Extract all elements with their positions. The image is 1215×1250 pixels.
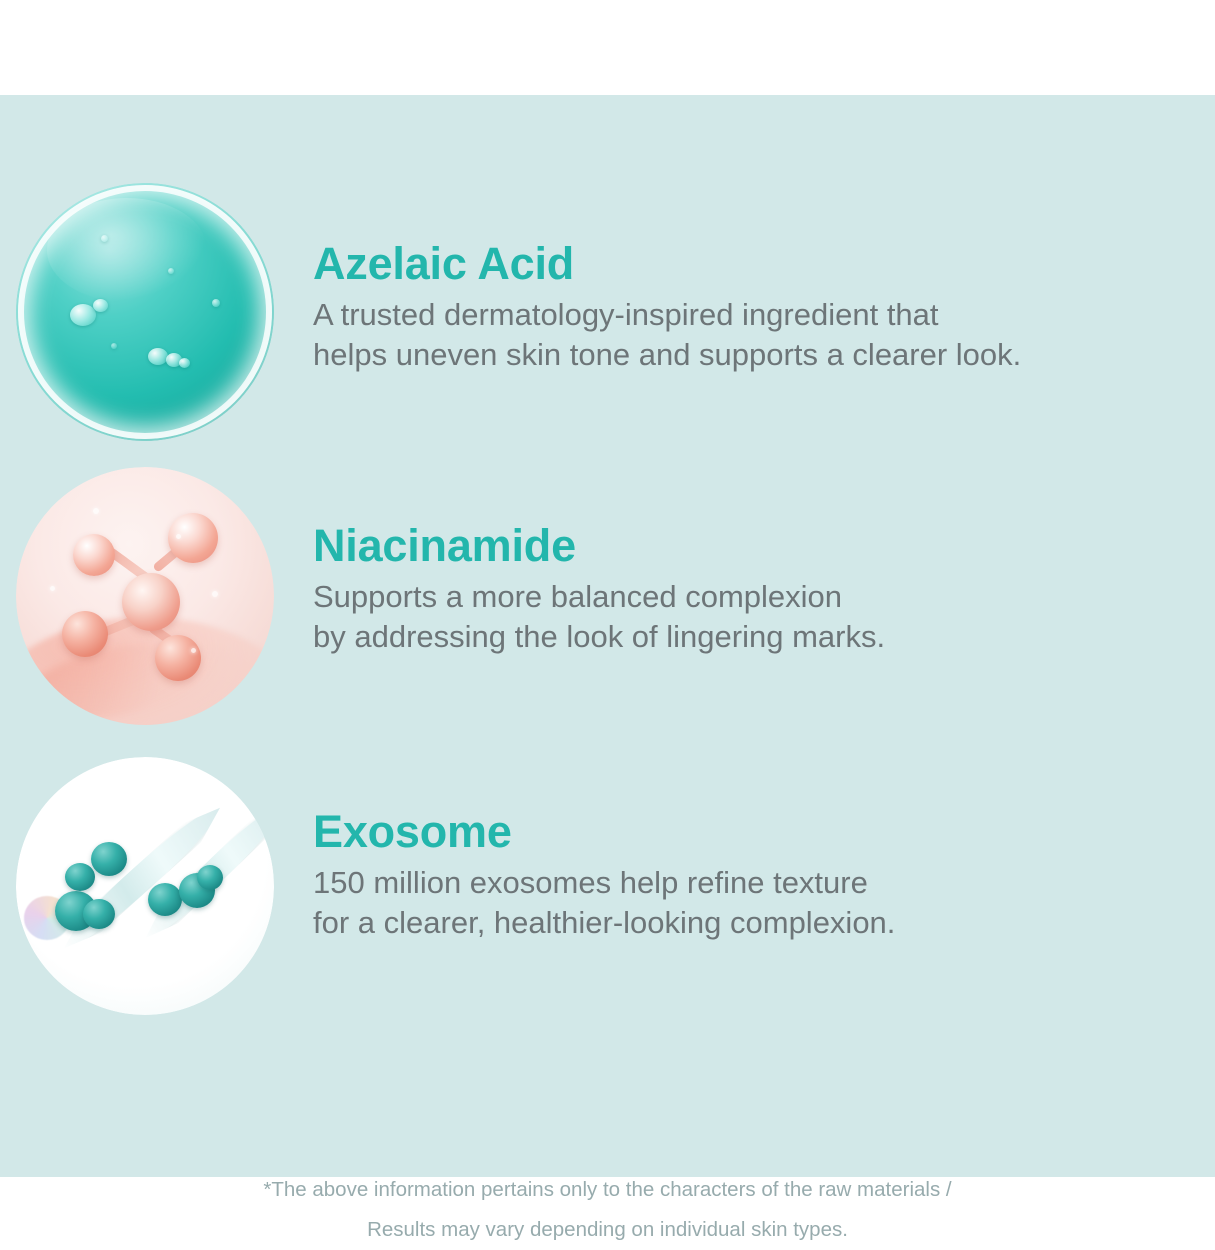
ingredient-description-line-2: by addressing the look of lingering mark…	[313, 617, 885, 658]
sparkle-icon	[176, 534, 181, 539]
ingredient-title: Azelaic Acid	[313, 241, 574, 286]
molecule-atom	[168, 513, 218, 563]
sparkle-icon	[212, 591, 218, 597]
exosome-vesicle	[83, 899, 115, 929]
teal-gel-droplet-image	[16, 183, 274, 441]
sparkle-icon	[93, 508, 99, 514]
ingredient-row: Niacinamide Supports a more balanced com…	[0, 467, 1215, 757]
ingredient-title: Niacinamide	[313, 523, 576, 568]
ingredient-description-line-1: A trusted dermatology-inspired ingredien…	[313, 295, 939, 336]
exosome-vesicle	[148, 883, 182, 916]
ingredient-infographic: Azelaic Acid A trusted dermatology-inspi…	[0, 0, 1215, 1215]
content-panel: Azelaic Acid A trusted dermatology-inspi…	[0, 95, 1215, 1177]
ingredient-description-line-1: Supports a more balanced complexion	[313, 577, 842, 618]
ingredient-title: Exosome	[313, 809, 512, 854]
exosome-vesicle	[197, 865, 223, 890]
molecule-atom	[155, 635, 201, 681]
pink-molecule-image	[16, 467, 274, 725]
ingredient-list: Azelaic Acid A trusted dermatology-inspi…	[0, 95, 1215, 1177]
disclaimer-footnote: *The above information pertains only to …	[0, 1170, 1215, 1250]
exosome-vesicle	[65, 863, 95, 891]
exosome-spindle-image	[16, 757, 274, 1015]
ingredient-row: Exosome 150 million exosomes help refine…	[0, 757, 1215, 1047]
disclaimer-line-2: Results may vary depending on individual…	[0, 1210, 1215, 1250]
ingredient-description-line-2: for a clearer, healthier-looking complex…	[313, 903, 895, 944]
molecule-core-atom	[122, 573, 180, 631]
molecule-atom	[73, 534, 115, 576]
gel-rim	[18, 185, 272, 439]
ingredient-row: Azelaic Acid A trusted dermatology-inspi…	[0, 183, 1215, 473]
ingredient-description-line-1: 150 million exosomes help refine texture	[313, 863, 868, 904]
exosome-vesicle	[91, 842, 127, 876]
sparkle-icon	[50, 586, 55, 591]
ingredient-description-line-2: helps uneven skin tone and supports a cl…	[313, 335, 1021, 376]
disclaimer-line-1: *The above information pertains only to …	[0, 1170, 1215, 1210]
